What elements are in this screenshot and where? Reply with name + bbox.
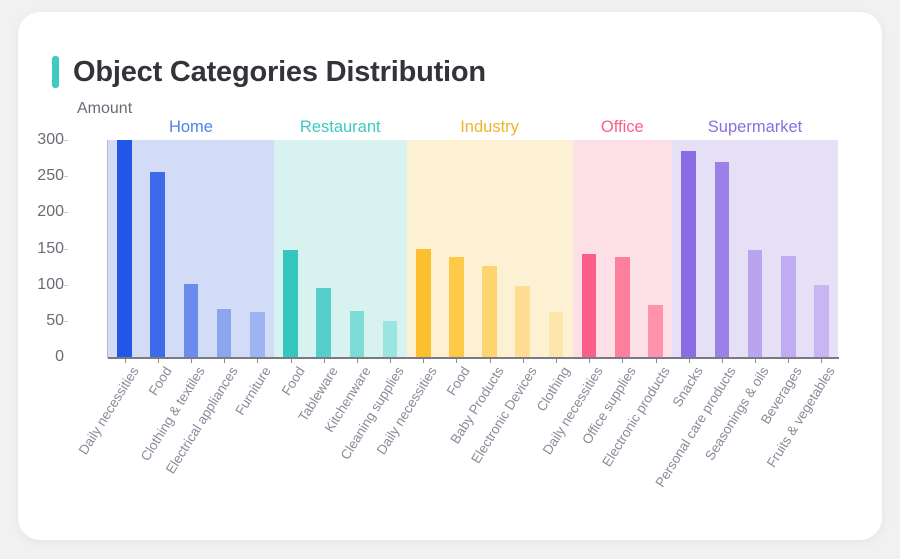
bar[interactable] — [515, 286, 530, 357]
bar[interactable] — [416, 249, 431, 358]
x-axis-tick-label: Tableware — [295, 364, 340, 424]
y-axis-tick-mark — [64, 176, 68, 177]
bar[interactable] — [449, 257, 464, 357]
x-axis-tick-label: Clothing & textiles — [138, 364, 208, 464]
x-axis-tick-label: Daily necessities — [540, 364, 606, 457]
y-axis-label: Amount — [77, 100, 132, 118]
x-axis-tick-label: Beverages — [758, 364, 805, 427]
x-axis-tick-label: Office supplies — [580, 364, 640, 447]
y-axis-tick-label: 200 — [20, 203, 64, 221]
x-axis-tick-mark — [158, 359, 159, 363]
x-axis-tick-mark — [224, 359, 225, 363]
x-axis-tick-label: Baby Products — [447, 364, 506, 446]
plot-area — [108, 140, 838, 357]
page-title: Object Categories Distribution — [73, 56, 486, 89]
bar[interactable] — [681, 151, 696, 357]
y-axis-tick-label: 150 — [20, 240, 64, 258]
y-axis-tick-label: 250 — [20, 167, 64, 185]
x-axis-tick-mark — [357, 359, 358, 363]
y-axis-ticks: 050100150200250300 — [18, 140, 64, 357]
bar[interactable] — [316, 288, 331, 357]
bar[interactable] — [814, 285, 829, 357]
bar[interactable] — [615, 257, 630, 357]
x-axis-tick-mark — [490, 359, 491, 363]
x-axis-tick-mark — [456, 359, 457, 363]
bar[interactable] — [648, 305, 663, 357]
x-axis-tick-label: Personal care products — [652, 364, 738, 490]
group-label-home: Home — [169, 118, 213, 137]
x-axis-tick-label: Electrical appliances — [163, 364, 241, 476]
x-axis-tick-label: Daily necessities — [374, 364, 440, 457]
chart-card: Object Categories Distribution Amount 05… — [18, 12, 882, 540]
x-axis-tick-mark — [423, 359, 424, 363]
x-axis-tick-label: Food — [145, 364, 174, 398]
x-axis-tick-mark — [523, 359, 524, 363]
group-label-restaurant: Restaurant — [300, 118, 381, 137]
x-axis-tick-mark — [589, 359, 590, 363]
title-accent-bar — [52, 56, 59, 88]
x-axis-tick-label: Cleaning supplies — [338, 364, 407, 462]
x-axis-tick-label: Kitchenware — [321, 364, 373, 435]
bar[interactable] — [283, 250, 298, 357]
x-axis-tick-mark — [324, 359, 325, 363]
x-axis-tick-label: Electronic products — [599, 364, 673, 469]
chart-header: Object Categories Distribution — [52, 50, 486, 94]
x-axis-tick-mark — [291, 359, 292, 363]
x-axis-tick-mark — [390, 359, 391, 363]
y-axis-tick-label: 0 — [20, 348, 64, 366]
x-axis-tick-mark — [556, 359, 557, 363]
x-axis-tick-label: Food — [278, 364, 307, 398]
x-axis-tick-label: Snacks — [669, 364, 705, 410]
x-axis-tick-mark — [689, 359, 690, 363]
x-axis-tick-mark — [125, 359, 126, 363]
bar[interactable] — [383, 321, 398, 357]
bar[interactable] — [781, 256, 796, 357]
bar[interactable] — [184, 284, 199, 357]
x-axis-tick-label: Furniture — [233, 364, 274, 418]
bar[interactable] — [549, 312, 564, 357]
bar[interactable] — [582, 254, 597, 357]
x-axis-tick-label: Clothing — [534, 364, 573, 414]
y-axis-tick-mark — [64, 212, 68, 213]
x-axis-tick-mark — [821, 359, 822, 363]
x-axis-tick-mark — [788, 359, 789, 363]
x-axis-tick-label: Electronic Devices — [468, 364, 540, 466]
x-axis-tick-label: Food — [444, 364, 473, 398]
x-axis-tick-mark — [191, 359, 192, 363]
bar[interactable] — [482, 266, 497, 357]
y-axis-tick-label: 100 — [20, 276, 64, 294]
y-axis-tick-label: 50 — [20, 312, 64, 330]
x-axis-tick-label: Seasonings & oils — [702, 364, 772, 463]
y-axis-tick-mark — [64, 249, 68, 250]
x-axis-tick-label: Daily necessities — [75, 364, 141, 457]
y-axis-tick-label: 300 — [20, 131, 64, 149]
group-label-office: Office — [601, 118, 644, 137]
bar[interactable] — [150, 172, 165, 357]
y-axis-tick-mark — [64, 140, 68, 141]
x-axis-tick-mark — [722, 359, 723, 363]
bar[interactable] — [250, 312, 265, 357]
bar[interactable] — [117, 140, 132, 357]
x-axis-tick-mark — [257, 359, 258, 363]
group-label-industry: Industry — [460, 118, 519, 137]
y-axis-tick-mark — [64, 285, 68, 286]
group-label-supermarket: Supermarket — [708, 118, 802, 137]
x-axis-tick-mark — [656, 359, 657, 363]
bar[interactable] — [748, 250, 763, 357]
x-axis-line — [108, 357, 839, 359]
x-axis-tick-label: Fruits & vegetables — [764, 364, 838, 470]
bar[interactable] — [350, 311, 365, 357]
y-axis-tick-mark — [64, 321, 68, 322]
x-axis-tick-mark — [755, 359, 756, 363]
bar[interactable] — [715, 162, 730, 357]
x-axis-tick-mark — [622, 359, 623, 363]
bar[interactable] — [217, 309, 232, 357]
